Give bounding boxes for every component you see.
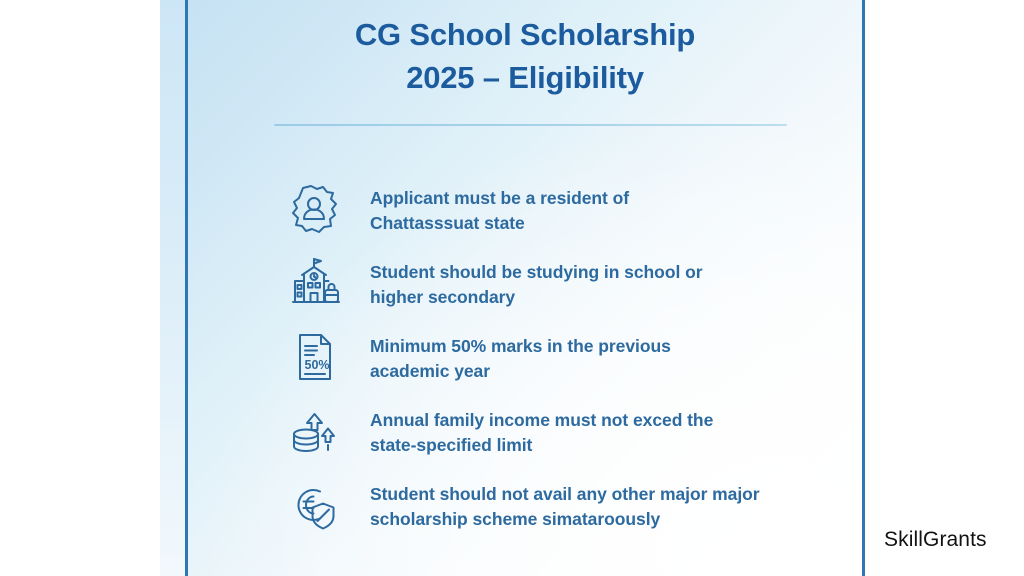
list-item: 50% Minimum 50% marks in the previous ac… — [284, 326, 838, 388]
list-item-text: Student should be studying in school or … — [346, 252, 838, 310]
page-title: CG School Scholarship 2025 – Eligibility — [188, 14, 862, 100]
left-edge-strip — [160, 0, 185, 576]
list-item-line: Chattasssuat state — [370, 211, 838, 236]
list-item-line: higher secondary — [370, 285, 838, 310]
list-item-line: Student should be studying in school or — [370, 260, 838, 285]
coins-arrows-up-icon — [284, 400, 346, 462]
document-percent-icon: 50% — [284, 326, 346, 388]
list-item: Student should be studying in school or … — [284, 252, 838, 314]
list-item: Student should not avail any other major… — [284, 474, 838, 536]
list-item-line: Minimum 50% marks in the previous — [370, 334, 838, 359]
list-item-line: Annual family income must not exced the — [370, 408, 838, 433]
list-item-line: scholarship scheme simataroously — [370, 507, 838, 532]
euro-shield-block-icon — [284, 474, 346, 536]
state-map-person-icon — [284, 178, 346, 240]
list-item-text: Student should not avail any other major… — [346, 474, 838, 532]
watermark-label: SkillGrants — [884, 528, 987, 552]
slide-canvas: CG School Scholarship 2025 – Eligibility — [0, 0, 1024, 576]
title-line-2: 2025 – Eligibility — [188, 57, 862, 100]
list-item-line: state-specified limit — [370, 433, 838, 458]
title-divider — [274, 124, 787, 126]
list-item-line: Student should not avail any other major… — [370, 482, 838, 507]
list-item-text: Applicant must be a resident of Chattass… — [346, 178, 838, 236]
list-item: Applicant must be a resident of Chattass… — [284, 178, 838, 240]
list-item-line: Applicant must be a resident of — [370, 186, 838, 211]
school-building-icon — [284, 252, 346, 314]
list-item-line: academic year — [370, 359, 838, 384]
list-item-text: Minimum 50% marks in the previous academ… — [346, 326, 838, 384]
list-item-text: Annual family income must not exced the … — [346, 400, 838, 458]
list-item: Annual family income must not exced the … — [284, 400, 838, 462]
title-line-1: CG School Scholarship — [188, 14, 862, 57]
eligibility-list: Applicant must be a resident of Chattass… — [284, 178, 838, 548]
document-percent-badge: 50% — [305, 358, 330, 372]
slide-card: CG School Scholarship 2025 – Eligibility — [185, 0, 865, 576]
